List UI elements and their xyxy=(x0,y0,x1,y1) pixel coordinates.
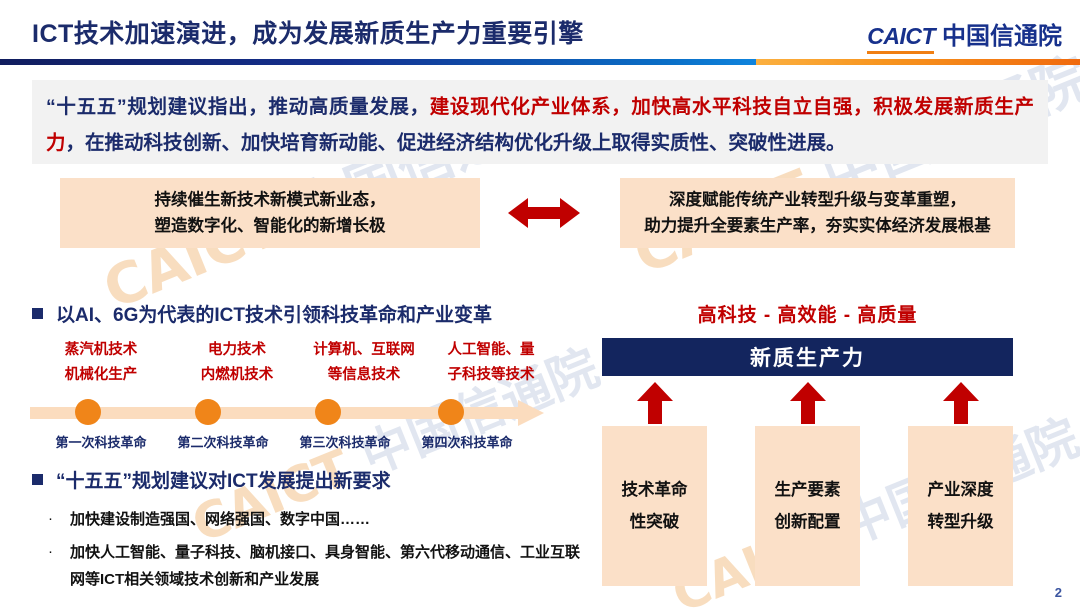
banner-new-productivity: 新质生产力 xyxy=(602,338,1013,376)
tech-label-line-1: 计算机、互联网 xyxy=(284,338,444,363)
compare-left-line-1: 持续催生新技术新模式新业态， xyxy=(155,187,386,213)
slide-root: CAICT 中国信通院 CAICT 中国信通院 CAICT 中国信通院 CAIC… xyxy=(0,0,1080,608)
pillar-line-2: 创新配置 xyxy=(775,506,841,538)
bullet-dot-icon: · xyxy=(48,506,54,532)
revolution-label: 第四次科技革命 xyxy=(392,432,542,451)
header-divider xyxy=(0,59,1080,65)
page-title: ICT技术加速演进，成为发展新质生产力重要引擎 xyxy=(32,14,584,50)
list-item: · 加快人工智能、量子科技、脑机接口、具身智能、第六代移动通信、工业互联网等IC… xyxy=(48,539,588,593)
pillar-line-1: 产业深度 xyxy=(928,474,994,506)
tech-label-line-1: 蒸汽机技术 xyxy=(26,338,176,363)
pillar-line-2: 性突破 xyxy=(630,506,680,538)
timeline-dot xyxy=(195,399,221,425)
page-number: 2 xyxy=(1055,585,1062,600)
caict-logo: CAICT 中国信通院 xyxy=(867,16,1062,54)
quote-text: “十五五”规划建议指出，推动高质量发展，建设现代化产业体系，加快高水平科技自立自… xyxy=(46,89,1034,161)
quote-segment-1: “十五五”规划建议指出，推动高质量发展， xyxy=(46,96,430,118)
list-item-label: 加快建设制造强国、网络强国、数字中国…… xyxy=(70,506,370,533)
timeline-dot xyxy=(315,399,341,425)
quote-box: “十五五”规划建议指出，推动高质量发展，建设现代化产业体系，加快高水平科技自立自… xyxy=(32,80,1048,164)
pillar-box: 生产要素 创新配置 xyxy=(755,426,860,586)
compare-box-right: 深度赋能传统产业转型升级与变革重塑， 助力提升全要素生产率，夯实实体经济发展根基 xyxy=(620,178,1015,248)
section-heading-1-label: 以AI、6G为代表的ICT技术引领科技革命和产业变革 xyxy=(56,300,492,327)
compare-left-line-2: 塑造数字化、智能化的新增长极 xyxy=(155,213,386,239)
tagline-hitech: 高科技 - 高效能 - 高质量 xyxy=(602,300,1013,327)
watermark: CAICT 中国信通院 xyxy=(660,398,1080,608)
pillar-box: 产业深度 转型升级 xyxy=(908,426,1013,586)
compare-right-line-2: 助力提升全要素生产率，夯实实体经济发展根基 xyxy=(644,213,991,239)
up-arrow-icon xyxy=(943,382,979,424)
bullet-square-icon xyxy=(32,474,43,485)
list-item: · 加快建设制造强国、网络强国、数字中国…… xyxy=(48,506,588,533)
divider-orange-segment xyxy=(756,59,1080,65)
timeline-dot xyxy=(438,399,464,425)
tech-label: 计算机、互联网 等信息技术 xyxy=(284,338,444,388)
compare-box-left: 持续催生新技术新模式新业态， 塑造数字化、智能化的新增长极 xyxy=(60,178,480,248)
list-item-label: 加快人工智能、量子科技、脑机接口、具身智能、第六代移动通信、工业互联网等ICT相… xyxy=(70,539,588,593)
tech-label-line-2: 子科技等技术 xyxy=(421,363,561,388)
up-arrow-icon xyxy=(790,382,826,424)
tech-revolution-timeline xyxy=(30,400,560,426)
section-heading-tech-revolution: 以AI、6G为代表的ICT技术引领科技革命和产业变革 xyxy=(32,300,492,327)
timeline-arrowhead-icon xyxy=(518,400,544,426)
tech-label-line-2: 等信息技术 xyxy=(284,363,444,388)
revolution-label-group: 第一次科技革命 第二次科技革命 第三次科技革命 第四次科技革命 xyxy=(26,432,566,454)
divider-blue-segment xyxy=(0,59,756,65)
logo-mark-text: CAICT xyxy=(867,23,935,54)
requirement-list: · 加快建设制造强国、网络强国、数字中国…… · 加快人工智能、量子科技、脑机接… xyxy=(48,506,588,599)
double-headed-arrow-icon xyxy=(508,196,580,230)
tech-label-line-2: 机械化生产 xyxy=(26,363,176,388)
pillar-line-1: 生产要素 xyxy=(775,474,841,506)
timeline-dot xyxy=(75,399,101,425)
up-arrow-icon xyxy=(637,382,673,424)
tech-label: 人工智能、量 子科技等技术 xyxy=(421,338,561,388)
bullet-dot-icon: · xyxy=(48,539,54,565)
logo-name-text: 中国信通院 xyxy=(942,16,1062,54)
tech-label: 蒸汽机技术 机械化生产 xyxy=(26,338,176,388)
pillar-line-2: 转型升级 xyxy=(928,506,994,538)
pillar-line-1: 技术革命 xyxy=(622,474,688,506)
tech-label-line-1: 人工智能、量 xyxy=(421,338,561,363)
tech-label-group: 蒸汽机技术 机械化生产 电力技术 内燃机技术 计算机、互联网 等信息技术 人工智… xyxy=(26,338,556,394)
section-heading-2-label: “十五五”规划建议对ICT发展提出新要求 xyxy=(56,466,391,493)
pillar-box: 技术革命 性突破 xyxy=(602,426,707,586)
section-heading-new-requirements: “十五五”规划建议对ICT发展提出新要求 xyxy=(32,466,391,493)
bullet-square-icon xyxy=(32,308,43,319)
quote-segment-3: ，在推动科技创新、加快培育新动能、促进经济结构优化升级上取得实质性、突破性进展。 xyxy=(66,132,846,154)
compare-right-line-1: 深度赋能传统产业转型升级与变革重塑， xyxy=(669,187,966,213)
